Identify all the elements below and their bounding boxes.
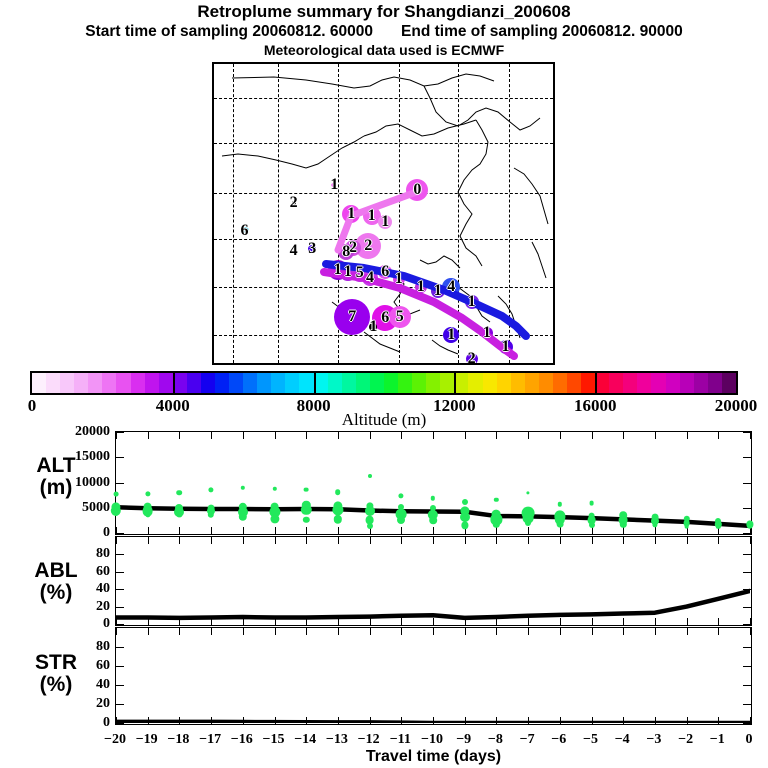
x-tick-label: −10 [421,732,443,748]
str-label-line1: STR [8,652,104,674]
alt-bubble [304,487,309,492]
x-tick-label: −16 [231,732,253,748]
alt-bubble [589,501,594,506]
colorbar-segment [525,373,539,393]
alt-bubble [589,522,595,528]
abl-line [116,537,750,624]
colorbar-segment [722,373,736,393]
plume-marker-day-label: 6 [381,264,389,280]
colorbar-segment [271,373,285,393]
colorbar-segment [694,373,708,393]
colorbar-segment [299,373,313,393]
colorbar-segment [201,373,215,393]
alt-bubble [429,517,437,525]
abl-label-line1: ABL [8,560,104,582]
colorbar-segment [342,373,356,393]
colorbar-segment [666,373,680,393]
altitude-colorbar[interactable] [30,371,738,395]
x-tick-label: 0 [746,732,753,748]
colorbar-segment [314,373,328,393]
plume-marker-day-label: 1 [368,208,376,224]
colorbar-segment [328,373,342,393]
x-tick-label: −6 [551,732,566,748]
colorbar-segment [680,373,694,393]
colorbar-segment [88,373,102,393]
alt-bubble [114,492,119,497]
plume-marker-day-label: 1 [334,262,342,278]
x-tick-label: −3 [646,732,661,748]
colorbar-segment [159,373,173,393]
plume-marker-day-label: 4 [447,279,455,295]
colorbar-major-separator [314,371,316,395]
colorbar-segment [257,373,271,393]
plume-marker-day-label: 1 [417,279,425,295]
plume-marker-day-label: 2 [468,351,476,366]
colorbar-segment [539,373,553,393]
colorbar-segment [708,373,722,393]
alt-bubble [177,490,183,496]
alt-bubble [114,512,118,516]
colorbar-segment [102,373,116,393]
colorbar-segment [398,373,412,393]
x-tick-label: −7 [520,732,535,748]
alt-label-line1: ALT [8,455,104,477]
colorbar-segment [187,373,201,393]
colorbar-segment [60,373,74,393]
colorbar-segment [229,373,243,393]
x-tick-mark [750,717,751,724]
plume-marker-day-label: 7 [348,309,356,325]
plume-marker-day-label: 5 [396,309,404,325]
alt-bubble [556,521,563,528]
panel-alt[interactable]: 05000100001500020000 [115,431,752,535]
y-tick-mark [116,723,124,724]
plume-marker-day-label: 1 [369,319,377,335]
x-tick-label: −18 [167,732,189,748]
plume-marker-day-label: 3 [308,241,316,257]
colorbar-segment [74,373,88,393]
colorbar-segment [637,373,651,393]
alt-bubble [462,499,468,505]
alt-label-line2: (m) [8,477,104,499]
x-tick-mark-top [750,537,751,544]
plume-marker-day-label: 0 [413,182,421,198]
plume-marker-day-label: 1 [395,271,403,287]
plume-marker-day-label: 5 [356,265,364,281]
page-title: Retroplume summary for Shangdianzi_20060… [0,2,768,22]
end-time-label: End time of sampling 20060812. 90000 [401,22,683,41]
plume-marker-day-label: 2 [290,195,298,211]
colorbar-segment [511,373,525,393]
x-tick-label: −5 [583,732,598,748]
alt-bubble [684,524,689,529]
abl-row-label: ABL (%) [8,560,104,604]
x-tick-label: −11 [390,732,411,748]
x-axis-title: Travel time (days) [115,748,752,766]
plume-marker-day-label: 1 [381,214,389,230]
x-tick-mark-top [750,432,751,439]
start-time-label: Start time of sampling 20060812. 60000 [85,22,373,41]
plume-marker-day-label: 2 [364,238,372,254]
colorbar-major-separator [595,371,597,395]
x-tick-label: −9 [456,732,471,748]
str-line [116,628,750,723]
panel-str[interactable]: 020406080 [115,627,752,725]
colorbar-major-separator [454,371,456,395]
colorbar-segment [426,373,440,393]
plume-marker-day-label: 1 [502,339,510,355]
plume-marker-day-label: 1 [483,325,491,341]
x-tick-label: −15 [263,732,285,748]
y-tick-mark [116,533,124,534]
plume-marker-day-label: 4 [366,270,374,286]
x-tick-label: −4 [615,732,630,748]
colorbar-segment [116,373,130,393]
str-label-line2: (%) [8,674,104,696]
colorbar-segment [32,373,46,393]
y-tick-label: 0 [103,715,116,731]
alt-bubble [335,489,341,495]
x-tick-label: −12 [358,732,380,748]
alt-bubble [525,520,531,526]
alt-bubble [460,512,470,522]
colorbar-segment [468,373,482,393]
colorbar-segment [370,373,384,393]
colorbar-segment [131,373,145,393]
colorbar-segment [173,373,187,393]
plume-marker-day-label: 6 [241,223,249,239]
x-tick-label: −19 [136,732,158,748]
colorbar-segment [356,373,370,393]
colorbar-segment [46,373,60,393]
colorbar-segment [497,373,511,393]
colorbar-major-separator [173,371,175,395]
x-tick-mark [750,618,751,625]
x-tick-label: −13 [326,732,348,748]
x-tick-label: −1 [710,732,725,748]
panel-abl[interactable]: 020406080 [115,536,752,626]
colorbar-segment [215,373,229,393]
plume-marker-day-label: 1 [447,327,455,343]
plume-marker-day-label: 8 [342,244,350,260]
plume-marker-day-label: 1 [344,264,352,280]
colorbar-segment [567,373,581,393]
alt-bubble [397,516,405,524]
x-tick-mark-top [750,628,751,635]
y-tick-label: 20000 [75,424,116,440]
str-row-label: STR (%) [8,652,104,696]
colorbar-segment [384,373,398,393]
plume-marker-day-label: 1 [330,177,338,193]
colorbar-segment [553,373,567,393]
plume-marker-day-label: 1 [347,206,355,222]
plume-marker-day-label: 1 [468,294,476,310]
plume-marker-day-label: 4 [290,243,298,259]
colorbar-segment [651,373,665,393]
colorbar-segment [609,373,623,393]
alt-bubble [747,523,753,529]
colorbar-segment [285,373,299,393]
y-tick-mark [116,624,124,625]
alt-bubble [365,506,375,516]
alt-row-label: ALT (m) [8,455,104,499]
alt-bubble [367,523,373,529]
x-tick-label: −2 [678,732,693,748]
alt-bubble [368,474,372,478]
x-tick-label: −8 [488,732,503,748]
x-tick-label: −14 [294,732,316,748]
title-block: Retroplume summary for Shangdianzi_20060… [0,2,768,59]
map-panel[interactable]: 126431110228115461114176511112 [212,62,555,365]
colorbar-segment [412,373,426,393]
y-tick-label: 20 [96,696,116,712]
colorbar-segment [243,373,257,393]
colorbar-segment [440,373,454,393]
plume-marker-day-label: 1 [434,283,442,299]
colorbar-segment [581,373,595,393]
plume-marker-day-label: 6 [381,310,389,326]
colorbar-segment [623,373,637,393]
x-tick-label: −17 [199,732,221,748]
x-tick-label: −20 [104,732,126,748]
colorbar-segment [454,373,468,393]
abl-label-line2: (%) [8,582,104,604]
colorbar-segment [145,373,159,393]
met-data-label: Meteorological data used is ECMWF [0,41,768,59]
colorbar-segment [595,373,609,393]
colorbar-segment [483,373,497,393]
